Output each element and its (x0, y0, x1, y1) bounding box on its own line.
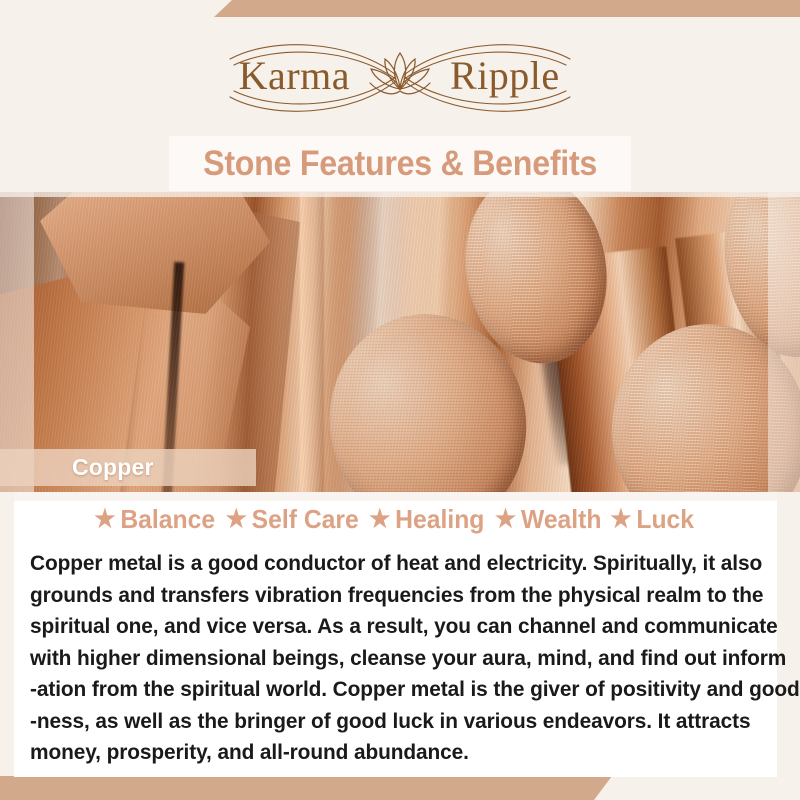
benefits-row: ★ Balance ★ Self Care ★ Healing ★ Wealth… (14, 504, 777, 535)
bottom-accent-bar (0, 776, 612, 800)
star-icon: ★ (94, 507, 115, 532)
description-line: -ness, as well as the bringer of good lu… (30, 706, 748, 738)
logo-word-karma: Karma (239, 53, 350, 98)
description-line: -ation from the spiritual world. Copper … (30, 674, 748, 706)
benefit-label: Wealth (521, 504, 605, 535)
star-icon: ★ (369, 507, 390, 532)
hero-image-copper-bars (0, 192, 800, 492)
description-text: Copper metal is a good conductor of heat… (30, 548, 748, 769)
header: Karma Ripple (0, 17, 800, 135)
content-top-strip (14, 492, 777, 501)
logo-word-ripple: Ripple (450, 53, 560, 98)
lotus-flower-icon (370, 53, 430, 94)
description-line: with higher dimensional beings, cleanse … (30, 643, 748, 675)
page-title: Stone Features & Benefits (203, 144, 597, 184)
copper-photo (0, 192, 800, 492)
photo-veil-right (768, 192, 800, 492)
photo-veil-left (0, 192, 34, 492)
stone-name-band: Copper (0, 449, 256, 486)
benefit-label: Balance (120, 504, 219, 535)
title-banner: Stone Features & Benefits (169, 136, 631, 191)
photo-layer-column-edge (300, 192, 324, 492)
star-icon: ★ (495, 507, 516, 532)
content-panel: ★ Balance ★ Self Care ★ Healing ★ Wealth… (14, 492, 777, 777)
benefit-label: Luck (636, 504, 697, 535)
benefit-label: Self Care (252, 504, 363, 535)
benefit-item-wealth: ★ Wealth (495, 504, 605, 535)
top-accent-bar (214, 0, 800, 17)
benefit-item-balance: ★ Balance (94, 504, 219, 535)
benefit-label: Healing (396, 504, 489, 535)
benefit-item-healing: ★ Healing (369, 504, 488, 535)
description-line: grounds and transfers vibration frequenc… (30, 580, 748, 612)
description-line: spiritual one, and vice versa. As a resu… (30, 611, 748, 643)
star-icon: ★ (610, 507, 631, 532)
poster-root: Karma Ripple Stone Features & Benefits (0, 0, 800, 800)
photo-veil-top (0, 192, 800, 197)
benefit-item-self-care: ★ Self Care (226, 504, 363, 535)
description-line: Copper metal is a good conductor of heat… (30, 548, 748, 580)
benefit-item-luck: ★ Luck (610, 504, 698, 535)
brand-logo: Karma Ripple (200, 31, 600, 127)
stone-name-label: Copper (72, 454, 154, 481)
logo-svg: Karma Ripple (200, 31, 600, 127)
description-line: money, prosperity, and all-round abundan… (30, 737, 748, 769)
star-icon: ★ (226, 507, 247, 532)
